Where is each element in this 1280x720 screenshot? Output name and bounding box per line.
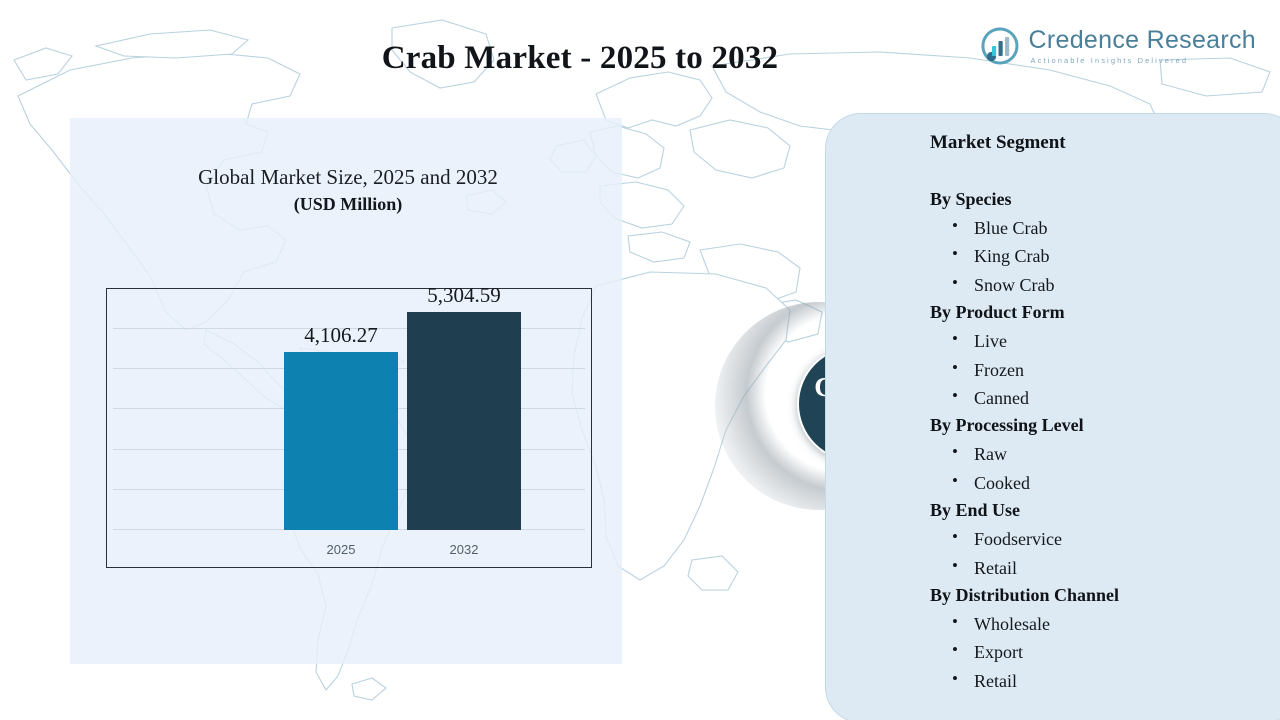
segment-group-title: By Processing Level: [930, 412, 1280, 440]
segment-item: King Crab: [930, 242, 1280, 270]
segment-item-list: LiveFrozenCanned: [930, 327, 1280, 412]
brand-tagline: Actionable Insights Delivered: [1031, 57, 1256, 65]
segment-group: By Product FormLiveFrozenCanned: [930, 299, 1280, 412]
plot-area: 4,106.2720255,304.592032: [107, 289, 591, 567]
segment-item: Blue Crab: [930, 214, 1280, 242]
bar-chart-circle-logo-icon: [980, 26, 1020, 66]
chart-title: Global Market Size, 2025 and 2032: [90, 164, 606, 190]
segment-group: By Processing LevelRawCooked: [930, 412, 1280, 497]
chart-heading: Global Market Size, 2025 and 2032 (USD M…: [90, 164, 606, 215]
segment-item: Cooked: [930, 469, 1280, 497]
segment-item: Wholesale: [930, 610, 1280, 638]
segment-item: Snow Crab: [930, 271, 1280, 299]
infographic-canvas: Crab Market - 2025 to 2032 Credence Rese…: [0, 0, 1280, 720]
segment-group-title: By End Use: [930, 497, 1280, 525]
segment-item-list: Blue CrabKing CrabSnow Crab: [930, 214, 1280, 299]
segment-item: Canned: [930, 384, 1280, 412]
segment-item-list: WholesaleExportRetail: [930, 610, 1280, 695]
segment-item: Raw: [930, 440, 1280, 468]
segment-group: By Distribution ChannelWholesaleExportRe…: [930, 582, 1280, 695]
x-tick-2025: 2025: [281, 542, 401, 557]
segment-group-title: By Product Form: [930, 299, 1280, 327]
segment-item: Export: [930, 638, 1280, 666]
segment-item: Retail: [930, 667, 1280, 695]
bar-2025: [284, 352, 398, 530]
bar-value-2032: 5,304.59: [374, 283, 554, 308]
segment-item: Foodservice: [930, 525, 1280, 553]
segment-group-title: By Species: [930, 186, 1280, 214]
bar-chart: 4,106.2720255,304.592032: [106, 288, 592, 568]
segment-group: By End UseFoodserviceRetail: [930, 497, 1280, 582]
segment-group: By SpeciesBlue CrabKing CrabSnow Crab: [930, 186, 1280, 299]
segment-item: Frozen: [930, 356, 1280, 384]
bar-2032: [407, 312, 521, 530]
x-tick-2032: 2032: [404, 542, 524, 557]
bar-value-2025: 4,106.27: [251, 323, 431, 348]
chart-units-label: (USD Million): [90, 194, 606, 215]
segment-item-list: FoodserviceRetail: [930, 525, 1280, 582]
market-segment-panel: Market Segment By SpeciesBlue CrabKing C…: [825, 113, 1280, 720]
segment-item: Live: [930, 327, 1280, 355]
brand-name: Credence Research: [1029, 28, 1256, 53]
market-segment-title: Market Segment: [930, 132, 1280, 154]
segment-group-title: By Distribution Channel: [930, 582, 1280, 610]
segment-item: Retail: [930, 554, 1280, 582]
brand-logo: Credence Research Actionable Insights De…: [980, 26, 1256, 66]
segment-groups: By SpeciesBlue CrabKing CrabSnow CrabBy …: [930, 186, 1280, 695]
segment-item-list: RawCooked: [930, 440, 1280, 497]
